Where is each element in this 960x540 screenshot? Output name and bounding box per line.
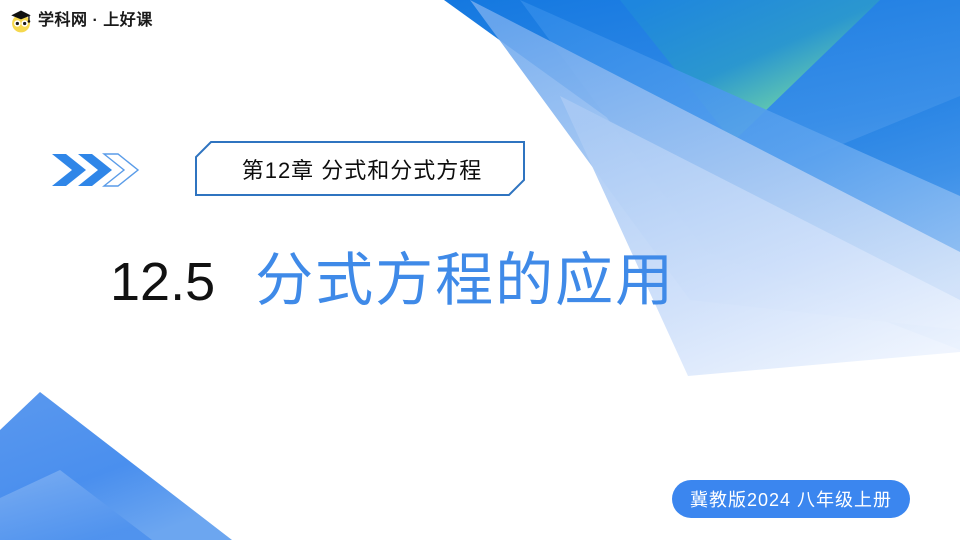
slide-root: 学科网 · 上好课 第12章 分式和分式方程 12.5 分式方程的应用 冀教版2…: [0, 0, 960, 540]
deco-layer-bottom-left-outer: [0, 392, 232, 540]
chapter-banner-label: 第12章 分式和分式方程: [195, 141, 525, 196]
chapter-banner: 第12章 分式和分式方程: [195, 141, 525, 196]
deco-layer-bottom-left-inner: [0, 470, 152, 540]
page-title: 12.5 分式方程的应用: [110, 252, 675, 310]
triple-chevron-right-icon: [52, 150, 144, 190]
owl-graduate-logo-icon: [8, 8, 34, 34]
site-logo: 学科网 · 上好课: [8, 8, 153, 34]
page-title-text: 分式方程的应用: [255, 252, 675, 310]
deco-layer-teal: [620, 0, 880, 142]
deco-white-wedge-left: [0, 0, 444, 430]
site-logo-text: 学科网 · 上好课: [38, 13, 153, 29]
deco-layer-deep-blue-right: [716, 96, 960, 320]
deco-layer-palest-blue: [560, 96, 960, 376]
edition-badge: 冀教版2024 八年级上册: [672, 480, 910, 518]
page-title-number: 12.5: [110, 255, 215, 309]
